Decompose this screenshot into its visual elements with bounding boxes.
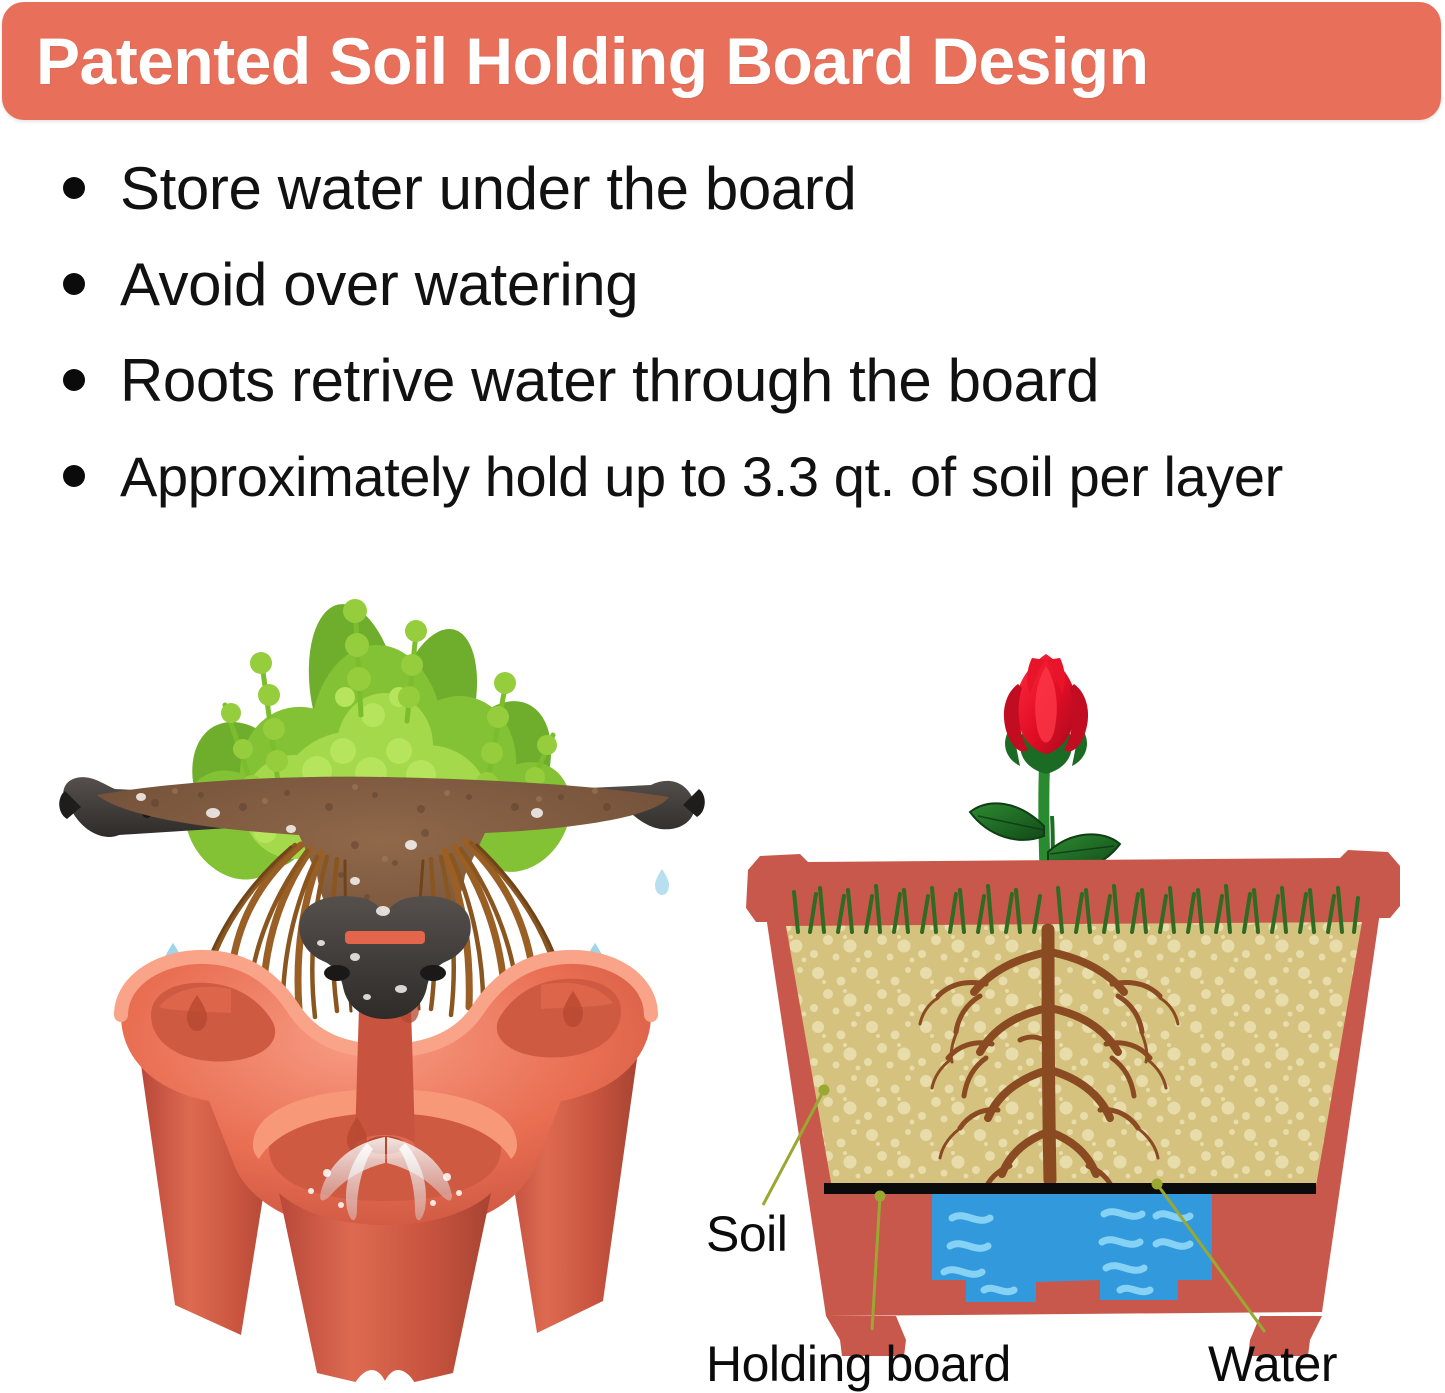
feature-text: Roots retrive water through the board	[120, 346, 1099, 415]
page-title: Patented Soil Holding Board Design	[2, 23, 1148, 99]
holding-board-plate	[299, 896, 470, 1019]
bullet-dot-icon	[63, 177, 85, 199]
callout-label-water: Water	[1208, 1335, 1337, 1393]
callout-label-soil: Soil	[706, 1205, 787, 1263]
bullet-dot-icon	[63, 273, 85, 295]
pot-cross-section	[746, 850, 1400, 1356]
rose-bloom-icon	[1004, 654, 1088, 754]
feature-text: Avoid over watering	[120, 250, 638, 319]
bullet-dot-icon	[63, 369, 85, 391]
feature-text: Store water under the board	[120, 154, 856, 223]
feature-list: Store water under the board Avoid over w…	[0, 140, 1445, 524]
bullet-dot-icon	[63, 465, 85, 487]
feature-text: Approximately hold up to 3.3 qt. of soil…	[120, 444, 1283, 509]
header-banner: Patented Soil Holding Board Design	[2, 2, 1441, 120]
feature-item: Roots retrive water through the board	[0, 332, 1445, 428]
callout-label-holding-board: Holding board	[706, 1335, 1011, 1393]
cross-section-diagram	[700, 640, 1445, 1389]
feature-item: Store water under the board	[0, 140, 1445, 236]
feature-item: Approximately hold up to 3.3 qt. of soil…	[0, 428, 1445, 524]
product-photo-exploded-planter	[55, 545, 715, 1389]
holding-board-bar	[824, 1183, 1316, 1194]
feature-item: Avoid over watering	[0, 236, 1445, 332]
